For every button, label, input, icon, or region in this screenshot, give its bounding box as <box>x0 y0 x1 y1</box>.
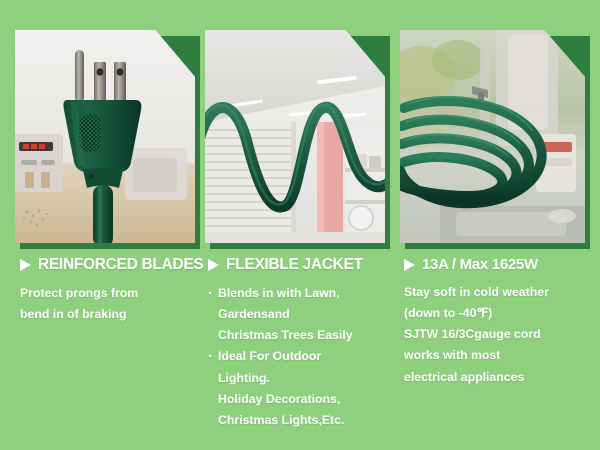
feature-bullet-list-2: Blends in with Lawn, Gardensand Christma… <box>208 283 400 431</box>
body-line: SJTW 16/3Cgauge cord <box>404 324 600 345</box>
list-item: Blends in with Lawn, Gardensand Christma… <box>208 283 400 346</box>
bullet-subline: Holiday Decorations, <box>218 389 400 410</box>
feature-column-flexible-jacket: FLEXIBLE JACKET Blends in with Lawn, Gar… <box>200 0 400 450</box>
feature-heading-3-label: 13A / Max 1625W <box>422 256 538 273</box>
photo-panel-1 <box>15 30 195 243</box>
photo-panel-2 <box>205 30 385 243</box>
green-power-plug-photo <box>15 30 195 243</box>
triangle-right-icon <box>208 259 219 271</box>
feature-heading-2-label: FLEXIBLE JACKET <box>226 256 363 274</box>
feature-heading-3: 13A / Max 1625W <box>404 256 600 273</box>
bullet-subline: Gardensand <box>218 304 400 325</box>
photo-panel-3 <box>400 30 585 243</box>
bullet-text: Ideal For Outdoor <box>218 349 321 363</box>
feature-text-1: REINFORCED BLADES Protect prongs from be… <box>20 256 205 325</box>
feature-body-1: Protect prongs from bend in of braking <box>20 283 205 325</box>
feature-text-2: FLEXIBLE JACKET Blends in with Lawn, Gar… <box>208 256 400 431</box>
body-line: Protect prongs from <box>20 283 205 304</box>
coiled-green-cord-photo <box>400 30 585 243</box>
feature-heading-1: REINFORCED BLADES <box>20 256 205 274</box>
list-item: Ideal For Outdoor Lighting. Holiday Deco… <box>208 346 400 431</box>
feature-heading-1-label: REINFORCED BLADES <box>38 256 203 274</box>
feature-text-3: 13A / Max 1625W Stay soft in cold weathe… <box>404 256 600 388</box>
bullet-subline: Christmas Lights,Etc. <box>218 410 400 431</box>
body-line: bend in of braking <box>20 304 205 325</box>
bullet-subline: Lighting. <box>218 368 400 389</box>
flexible-cord-wave-photo <box>205 30 385 243</box>
product-feature-banner: REINFORCED BLADES Protect prongs from be… <box>0 0 600 450</box>
triangle-right-icon <box>20 259 31 271</box>
body-line: (down to -40℉) <box>404 303 600 324</box>
feature-heading-2: FLEXIBLE JACKET <box>208 256 400 274</box>
triangle-right-icon <box>404 259 415 271</box>
bullet-text: Blends in with Lawn, <box>218 286 340 300</box>
body-line: electrical appliances <box>404 367 600 388</box>
feature-columns: REINFORCED BLADES Protect prongs from be… <box>0 0 600 450</box>
body-line: works with most <box>404 345 600 366</box>
feature-body-3: Stay soft in cold weather (down to -40℉)… <box>404 282 600 388</box>
feature-column-reinforced-blades: REINFORCED BLADES Protect prongs from be… <box>0 0 200 450</box>
bullet-subline: Christmas Trees Easily <box>218 325 400 346</box>
body-line: Stay soft in cold weather <box>404 282 600 303</box>
feature-column-amperage: 13A / Max 1625W Stay soft in cold weathe… <box>400 0 600 450</box>
